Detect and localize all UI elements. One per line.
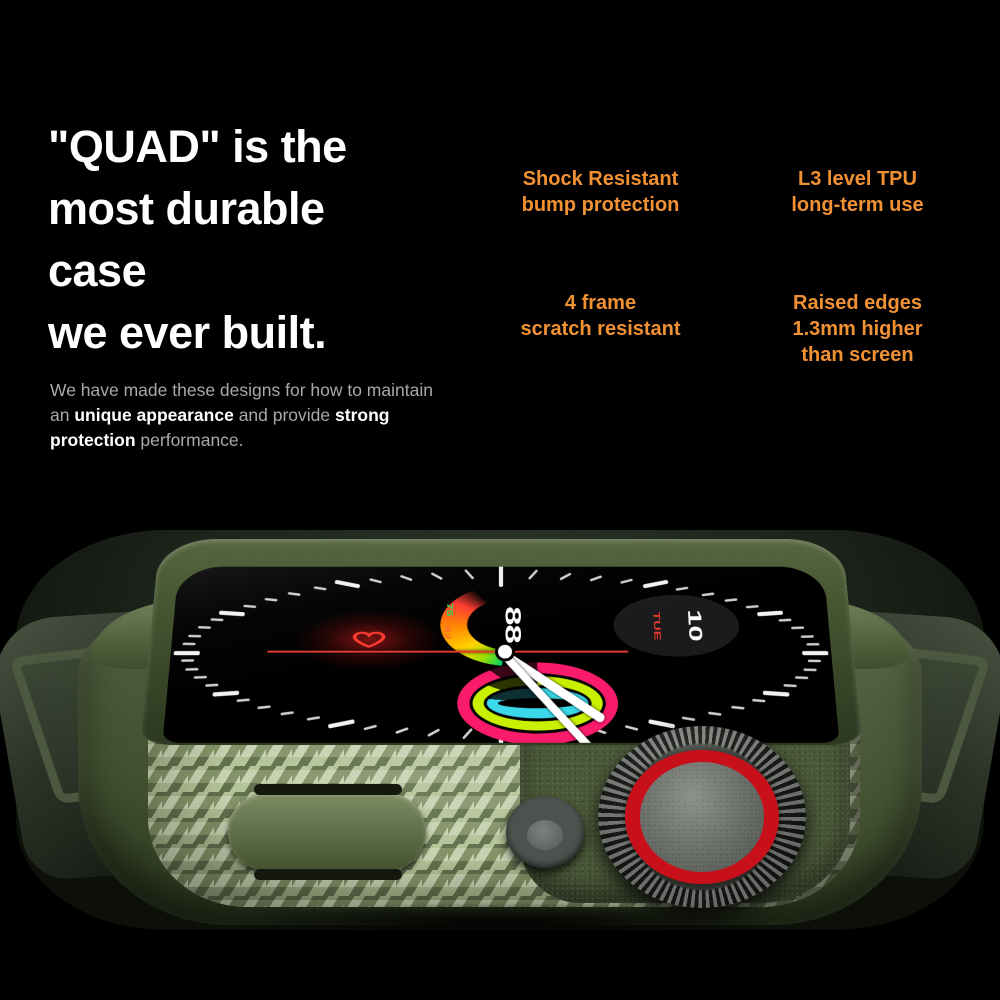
feature-raised-edges: Raised edges 1.3mm higher than screen xyxy=(735,290,980,368)
dial-tick-major xyxy=(642,580,668,589)
dial-tick-minor xyxy=(210,619,223,622)
dial-tick-minor xyxy=(620,578,633,583)
hands-pivot xyxy=(498,645,512,659)
dial-tick-minor xyxy=(803,668,816,670)
feature-l3-tpu: L3 level TPU long-term use xyxy=(735,166,980,218)
dial-tick-minor xyxy=(288,592,301,596)
digital-crown[interactable] xyxy=(598,726,806,908)
product-drop-shadow xyxy=(120,895,880,949)
dial-tick-minor xyxy=(183,643,196,645)
feature-edges-line-3: than screen xyxy=(735,342,980,368)
feature-shock-resistant: Shock Resistant bump protection xyxy=(478,166,723,218)
feature-tpu-line-2: long-term use xyxy=(735,192,980,218)
dial-tick-minor xyxy=(428,729,441,737)
headline-line-3: case xyxy=(48,240,468,302)
dial-tick-minor xyxy=(800,635,813,637)
feature-frame-line-2: scratch resistant xyxy=(478,316,723,342)
dial-tick-minor xyxy=(395,727,408,734)
subtitle-strong-1: unique appearance xyxy=(74,405,234,425)
dial-tick-minor xyxy=(625,725,638,730)
dial-tick-minor xyxy=(745,605,758,608)
watch-screen[interactable]: 75 82 88 TUE 10 xyxy=(163,567,840,743)
crown-center-face xyxy=(640,762,765,871)
feature-edges-line-2: 1.3mm higher xyxy=(735,316,980,342)
dial-tick-minor xyxy=(364,725,377,730)
date-weekday: TUE xyxy=(651,611,662,640)
feature-tpu-line-1: L3 level TPU xyxy=(735,166,980,192)
dial-tick-minor xyxy=(313,587,326,591)
feature-4-frame: 4 frame scratch resistant xyxy=(478,290,723,342)
dial-tick-major xyxy=(219,610,245,616)
date-complication[interactable]: TUE 10 xyxy=(613,595,742,657)
dial-tick-minor xyxy=(257,705,270,709)
dial-tick-minor xyxy=(181,660,194,662)
product-image-smartwatch-case: 75 82 88 TUE 10 xyxy=(0,495,1000,965)
side-button-bottom-edge xyxy=(254,869,402,880)
dial-tick-major xyxy=(327,719,354,729)
dial-tick-minor xyxy=(682,717,695,721)
dial-tick-minor xyxy=(559,572,571,580)
gauge-value: 88 xyxy=(500,606,526,643)
dial-tick-minor xyxy=(528,569,538,579)
dial-tick-minor xyxy=(779,619,792,622)
dial-tick-major xyxy=(174,651,200,655)
dial-tick-minor xyxy=(725,598,738,601)
gauge-low-value: 82 xyxy=(443,626,452,640)
subtitle-part-2: and provide xyxy=(234,405,335,425)
heart-rate-complication[interactable] xyxy=(282,612,454,668)
dial-tick-minor xyxy=(400,575,413,581)
dial-tick-minor xyxy=(676,587,689,591)
raised-bezel: 75 82 88 TUE 10 xyxy=(140,539,863,745)
dial-tick-minor xyxy=(590,575,603,581)
side-button-top-edge xyxy=(254,784,402,795)
dial-tick-minor xyxy=(281,711,294,715)
dial-tick-minor xyxy=(244,605,257,608)
dial-tick-minor xyxy=(369,578,382,583)
dial-tick-major xyxy=(334,580,360,589)
subtitle-part-3: performance. xyxy=(136,430,244,450)
dial-tick-minor xyxy=(186,668,199,670)
dial-tick-minor xyxy=(731,705,744,709)
date-day: 10 xyxy=(683,609,705,641)
noise-gauge-complication[interactable]: 75 82 88 xyxy=(440,584,587,667)
dial-tick-minor xyxy=(464,569,474,579)
dial-tick-minor xyxy=(806,643,819,645)
dial-tick-minor xyxy=(791,627,804,630)
power-button[interactable] xyxy=(506,796,584,868)
dial-tick-minor xyxy=(795,676,808,679)
dial-tick-minor xyxy=(237,699,250,702)
page-title: "QUAD" is the most durable case we ever … xyxy=(48,116,468,364)
dial-tick-minor xyxy=(431,572,443,580)
headline-line-1: "QUAD" is the xyxy=(48,116,468,178)
dial-tick-minor xyxy=(708,711,721,715)
dial-tick-major xyxy=(213,690,239,696)
feature-shock-line-2: bump protection xyxy=(478,192,723,218)
gauge-high-value: 75 xyxy=(445,603,454,617)
dial-tick-minor xyxy=(205,684,218,687)
dial-tick-minor xyxy=(264,598,277,601)
dial-tick-minor xyxy=(193,676,206,679)
dial-tick-major xyxy=(648,719,675,729)
dial-tick-minor xyxy=(808,660,821,662)
feature-edges-line-1: Raised edges xyxy=(735,290,980,316)
dial-tick-major xyxy=(763,690,789,696)
feature-shock-line-1: Shock Resistant xyxy=(478,166,723,192)
feature-frame-line-1: 4 frame xyxy=(478,290,723,316)
second-hand xyxy=(267,651,628,653)
dial-tick-minor xyxy=(188,635,201,637)
subtitle-paragraph: We have made these designs for how to ma… xyxy=(50,378,450,453)
heart-icon xyxy=(343,632,396,649)
side-action-button[interactable] xyxy=(228,793,426,871)
dial-tick-minor xyxy=(198,627,211,630)
dial-tick-minor xyxy=(752,699,765,702)
headline-line-2: most durable xyxy=(48,178,468,240)
dial-tick-minor xyxy=(306,717,319,721)
dial-tick-major xyxy=(802,651,828,655)
dial-tick-minor xyxy=(784,684,797,687)
headline-line-4: we ever built. xyxy=(48,302,468,364)
dial-tick-major xyxy=(757,610,783,616)
dial-tick-minor xyxy=(701,592,714,596)
